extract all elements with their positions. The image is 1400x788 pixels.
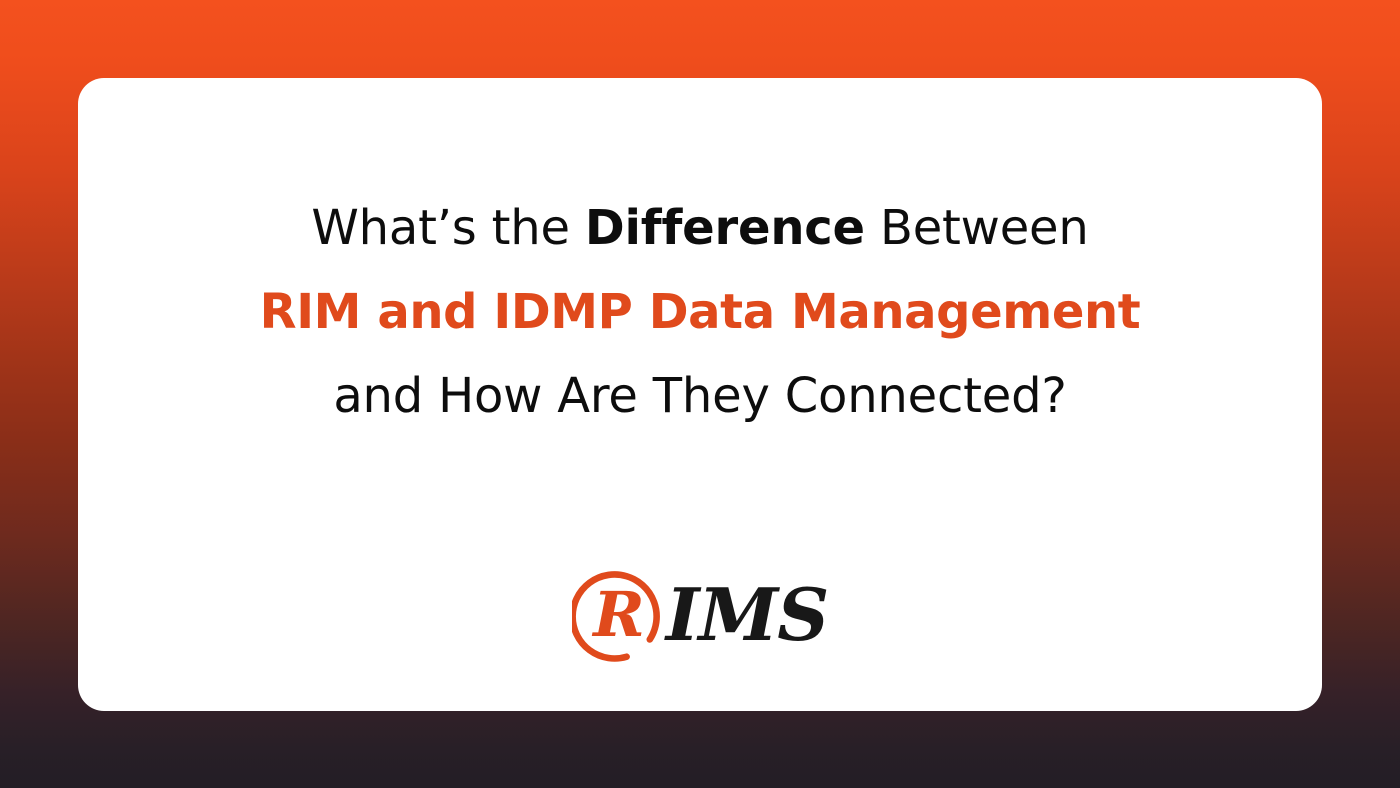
brand-logo: R IMS (78, 566, 1322, 662)
headline-block: What’s the Difference Between RIM and ID… (78, 186, 1322, 438)
headline-line-1-suffix: Between (865, 200, 1089, 256)
logo-wordmark: IMS (666, 579, 828, 651)
svg-text:R: R (591, 578, 645, 651)
circled-r-icon: R (572, 566, 668, 662)
slide-canvas: What’s the Difference Between RIM and ID… (0, 0, 1400, 788)
headline-line-2-accent: RIM and IDMP Data Management (78, 270, 1322, 354)
headline-emphasis-difference: Difference (585, 200, 865, 256)
content-card: What’s the Difference Between RIM and ID… (78, 78, 1322, 711)
headline-line-1-prefix: What’s the (311, 200, 584, 256)
headline-line-3: and How Are They Connected? (78, 354, 1322, 438)
headline-line-1: What’s the Difference Between (78, 186, 1322, 270)
